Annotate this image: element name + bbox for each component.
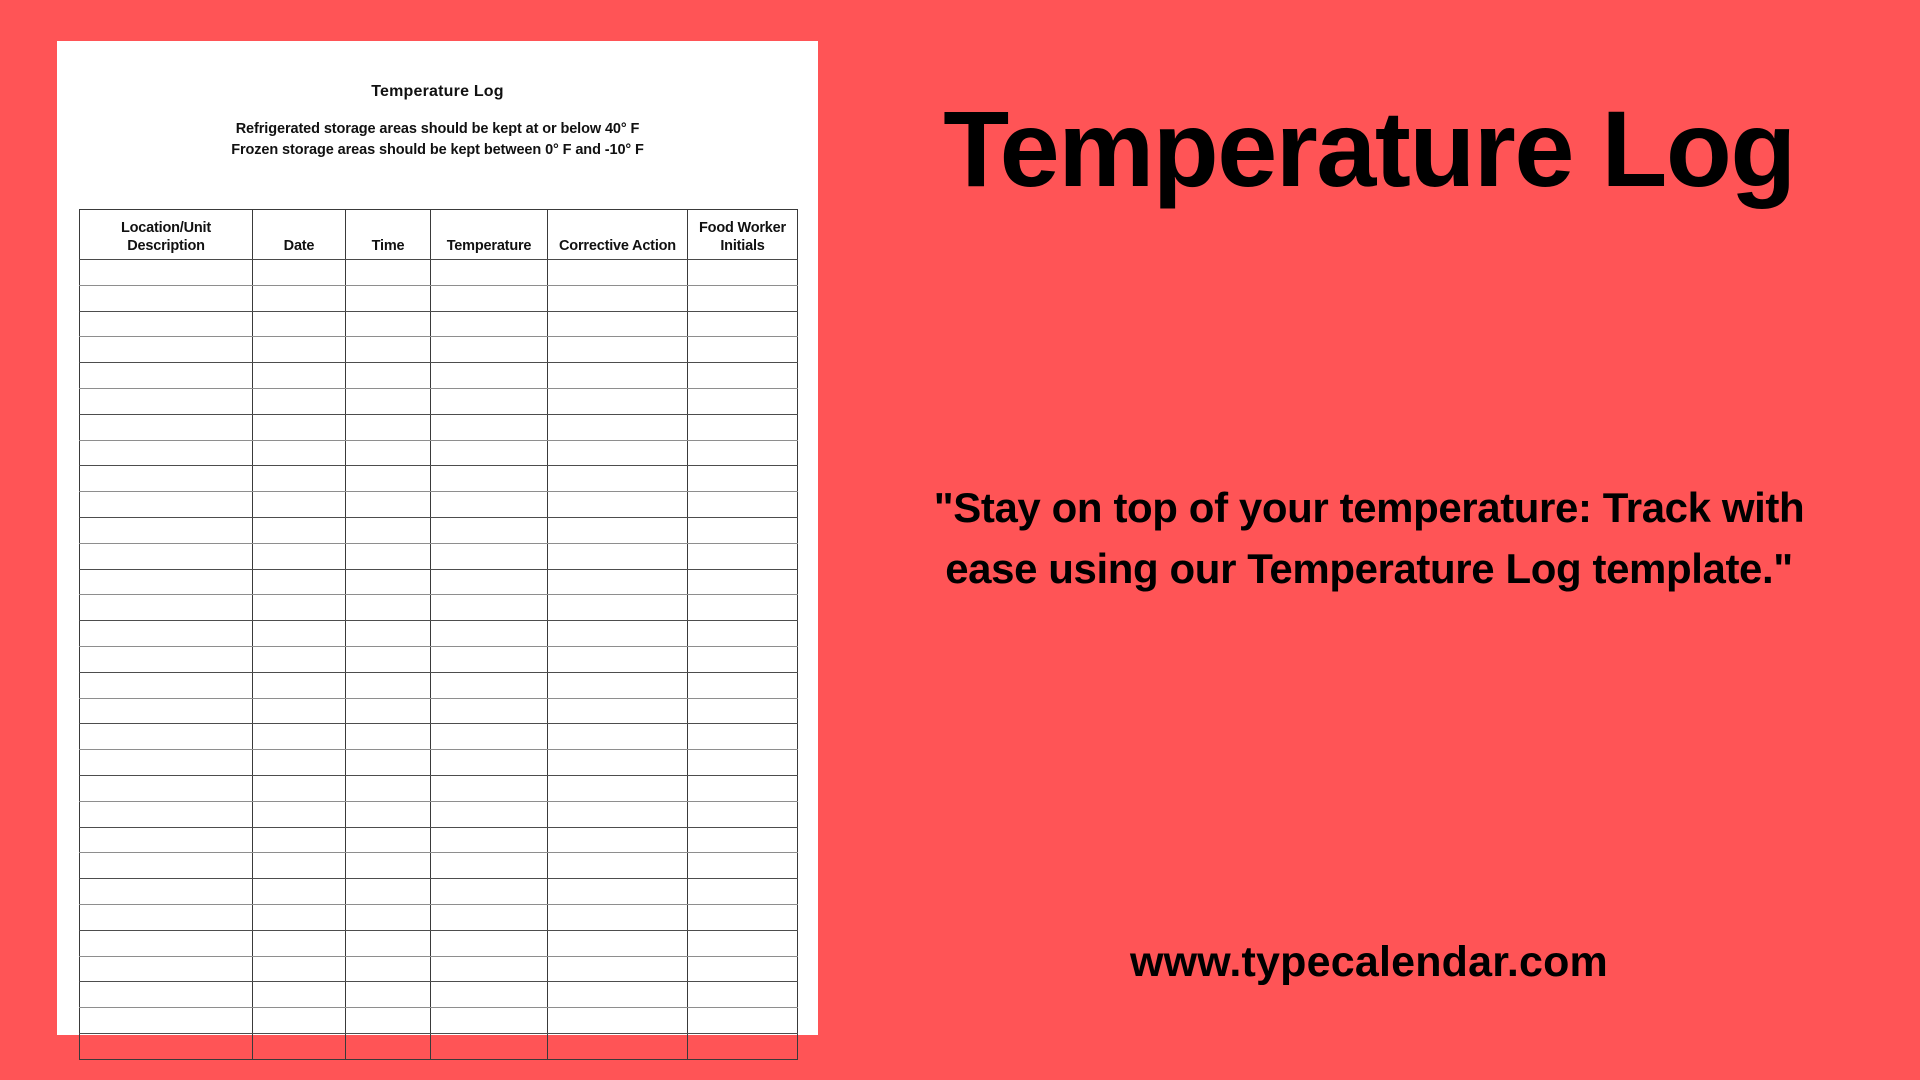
table-cell[interactable] — [80, 904, 253, 930]
table-cell[interactable] — [346, 982, 431, 1008]
table-cell[interactable] — [253, 956, 346, 982]
table-cell[interactable] — [346, 595, 431, 621]
table-cell[interactable] — [346, 1008, 431, 1034]
table-cell[interactable] — [80, 621, 253, 647]
column-header-location-line1: Location/Unit — [121, 220, 211, 236]
table-cell[interactable] — [548, 517, 688, 543]
table-cell[interactable] — [688, 698, 798, 724]
promo-quote: "Stay on top of your temperature: Track … — [914, 478, 1824, 600]
table-cell[interactable] — [346, 801, 431, 827]
promo-website-url[interactable]: www.typecalendar.com — [818, 938, 1920, 987]
table-cell[interactable] — [346, 724, 431, 750]
table-cell[interactable] — [688, 569, 798, 595]
table-cell[interactable] — [688, 363, 798, 389]
table-cell[interactable] — [688, 311, 798, 337]
table-cell[interactable] — [346, 466, 431, 492]
table-cell[interactable] — [80, 930, 253, 956]
table-cell[interactable] — [548, 466, 688, 492]
table-cell[interactable] — [431, 543, 548, 569]
table-cell[interactable] — [548, 1033, 688, 1059]
table-cell[interactable] — [80, 311, 253, 337]
table-cell[interactable] — [346, 337, 431, 363]
table-cell[interactable] — [80, 982, 253, 1008]
table-cell[interactable] — [431, 853, 548, 879]
table-cell[interactable] — [346, 621, 431, 647]
table-row[interactable] — [80, 724, 798, 750]
table-cell[interactable] — [253, 982, 346, 1008]
table-cell[interactable] — [80, 646, 253, 672]
table-cell[interactable] — [431, 311, 548, 337]
table-cell[interactable] — [548, 750, 688, 776]
table-cell[interactable] — [253, 595, 346, 621]
table-cell[interactable] — [253, 646, 346, 672]
table-cell[interactable] — [80, 595, 253, 621]
table-cell[interactable] — [80, 517, 253, 543]
table-cell[interactable] — [548, 724, 688, 750]
table-cell[interactable] — [431, 440, 548, 466]
table-cell[interactable] — [431, 672, 548, 698]
table-row[interactable] — [80, 1033, 798, 1059]
table-cell[interactable] — [431, 646, 548, 672]
table-cell[interactable] — [346, 698, 431, 724]
table-cell[interactable] — [346, 517, 431, 543]
table-cell[interactable] — [346, 1033, 431, 1059]
table-cell[interactable] — [431, 879, 548, 905]
table-cell[interactable] — [688, 517, 798, 543]
table-cell[interactable] — [80, 724, 253, 750]
table-cell[interactable] — [548, 879, 688, 905]
table-cell[interactable] — [548, 337, 688, 363]
table-cell[interactable] — [253, 285, 346, 311]
table-row[interactable] — [80, 904, 798, 930]
table-cell[interactable] — [253, 517, 346, 543]
table-cell[interactable] — [548, 646, 688, 672]
table-cell[interactable] — [253, 543, 346, 569]
table-cell[interactable] — [80, 827, 253, 853]
table-cell[interactable] — [688, 930, 798, 956]
table-cell[interactable] — [80, 801, 253, 827]
table-cell[interactable] — [688, 1033, 798, 1059]
table-row[interactable] — [80, 646, 798, 672]
table-cell[interactable] — [688, 440, 798, 466]
table-cell[interactable] — [253, 930, 346, 956]
table-cell[interactable] — [253, 775, 346, 801]
table-cell[interactable] — [548, 930, 688, 956]
table-cell[interactable] — [688, 543, 798, 569]
table-cell[interactable] — [80, 698, 253, 724]
table-cell[interactable] — [548, 363, 688, 389]
table-cell[interactable] — [688, 414, 798, 440]
column-header-temperature-label: Temperature — [447, 238, 532, 254]
table-cell[interactable] — [688, 956, 798, 982]
column-header-corrective-action-label: Corrective Action — [559, 238, 676, 254]
table-cell[interactable] — [431, 750, 548, 776]
table-cell[interactable] — [688, 260, 798, 286]
table-cell[interactable] — [688, 646, 798, 672]
table-cell[interactable] — [548, 440, 688, 466]
table-cell[interactable] — [253, 904, 346, 930]
table-cell[interactable] — [253, 388, 346, 414]
column-header-initials-line2: Initials — [720, 238, 764, 254]
table-cell[interactable] — [548, 698, 688, 724]
table-cell[interactable] — [688, 466, 798, 492]
table-cell[interactable] — [688, 904, 798, 930]
table-cell[interactable] — [688, 337, 798, 363]
table-cell[interactable] — [253, 337, 346, 363]
table-cell[interactable] — [431, 801, 548, 827]
table-cell[interactable] — [346, 879, 431, 905]
table-cell[interactable] — [688, 672, 798, 698]
table-cell[interactable] — [253, 363, 346, 389]
table-row[interactable] — [80, 414, 798, 440]
table-row[interactable] — [80, 750, 798, 776]
table-cell[interactable] — [431, 363, 548, 389]
table-cell[interactable] — [688, 801, 798, 827]
table-cell[interactable] — [80, 466, 253, 492]
table-cell[interactable] — [548, 827, 688, 853]
table-cell[interactable] — [80, 440, 253, 466]
note-frozen: Frozen storage areas should be kept betw… — [57, 140, 818, 161]
table-cell[interactable] — [80, 569, 253, 595]
table-row[interactable] — [80, 930, 798, 956]
table-cell[interactable] — [346, 775, 431, 801]
table-row[interactable] — [80, 775, 798, 801]
table-row[interactable] — [80, 827, 798, 853]
table-cell[interactable] — [688, 388, 798, 414]
table-cell[interactable] — [431, 285, 548, 311]
table-cell[interactable] — [688, 982, 798, 1008]
table-cell[interactable] — [80, 414, 253, 440]
table-header: Location/Unit Description Date Time Temp… — [80, 210, 798, 260]
table-header-row: Location/Unit Description Date Time Temp… — [80, 210, 798, 260]
table-cell[interactable] — [548, 982, 688, 1008]
table-cell[interactable] — [548, 543, 688, 569]
table-cell[interactable] — [431, 1008, 548, 1034]
column-header-date-label: Date — [284, 238, 315, 254]
table-cell[interactable] — [80, 853, 253, 879]
column-header-corrective-action: Corrective Action — [548, 210, 688, 260]
table-cell[interactable] — [431, 414, 548, 440]
table-row[interactable] — [80, 466, 798, 492]
document-title: Temperature Log — [57, 83, 818, 101]
table-cell[interactable] — [688, 853, 798, 879]
table-cell[interactable] — [253, 621, 346, 647]
table-row[interactable] — [80, 621, 798, 647]
table-cell[interactable] — [431, 724, 548, 750]
table-cell[interactable] — [431, 698, 548, 724]
table-cell[interactable] — [346, 388, 431, 414]
table-cell[interactable] — [346, 285, 431, 311]
table-row[interactable] — [80, 956, 798, 982]
temperature-log-table: Location/Unit Description Date Time Temp… — [79, 209, 798, 1060]
table-cell[interactable] — [346, 543, 431, 569]
note-refrigerated: Refrigerated storage areas should be kep… — [57, 119, 818, 140]
table-cell[interactable] — [431, 775, 548, 801]
table-cell[interactable] — [80, 956, 253, 982]
column-header-time: Time — [346, 210, 431, 260]
table-cell[interactable] — [431, 904, 548, 930]
table-cell[interactable] — [253, 724, 346, 750]
table-cell[interactable] — [548, 311, 688, 337]
table-cell[interactable] — [80, 260, 253, 286]
table-cell[interactable] — [346, 750, 431, 776]
table-cell[interactable] — [688, 750, 798, 776]
table-cell[interactable] — [431, 388, 548, 414]
table-cell[interactable] — [548, 775, 688, 801]
table-cell[interactable] — [688, 285, 798, 311]
table-cell[interactable] — [346, 260, 431, 286]
table-row[interactable] — [80, 388, 798, 414]
column-header-location-line2: Description — [127, 238, 205, 254]
table-cell[interactable] — [548, 569, 688, 595]
table-cell[interactable] — [548, 492, 688, 518]
temperature-log-table-wrapper: Location/Unit Description Date Time Temp… — [79, 209, 797, 1060]
table-cell[interactable] — [346, 853, 431, 879]
table-cell[interactable] — [431, 517, 548, 543]
table-cell[interactable] — [548, 595, 688, 621]
table-cell[interactable] — [253, 492, 346, 518]
table-cell[interactable] — [346, 646, 431, 672]
table-cell[interactable] — [548, 414, 688, 440]
table-cell[interactable] — [80, 879, 253, 905]
table-row[interactable] — [80, 517, 798, 543]
table-cell[interactable] — [253, 801, 346, 827]
column-header-date: Date — [253, 210, 346, 260]
column-header-initials-line1: Food Worker — [699, 220, 786, 236]
table-body — [80, 260, 798, 1060]
table-row[interactable] — [80, 801, 798, 827]
table-cell[interactable] — [548, 388, 688, 414]
table-cell[interactable] — [431, 260, 548, 286]
table-cell[interactable] — [253, 750, 346, 776]
table-cell[interactable] — [548, 1008, 688, 1034]
table-cell[interactable] — [548, 621, 688, 647]
table-cell[interactable] — [688, 621, 798, 647]
table-cell[interactable] — [431, 930, 548, 956]
table-cell[interactable] — [253, 1008, 346, 1034]
table-row[interactable] — [80, 337, 798, 363]
table-cell[interactable] — [346, 672, 431, 698]
document-page: Temperature Log Refrigerated storage are… — [57, 41, 818, 1035]
column-header-location: Location/Unit Description — [80, 210, 253, 260]
table-cell[interactable] — [80, 388, 253, 414]
table-row[interactable] — [80, 672, 798, 698]
table-cell[interactable] — [346, 930, 431, 956]
table-cell[interactable] — [253, 414, 346, 440]
document-content: Temperature Log Refrigerated storage are… — [57, 41, 818, 169]
table-cell[interactable] — [346, 363, 431, 389]
table-row[interactable] — [80, 260, 798, 286]
table-cell[interactable] — [548, 285, 688, 311]
table-cell[interactable] — [431, 466, 548, 492]
storage-notes: Refrigerated storage areas should be kep… — [57, 119, 818, 161]
table-cell[interactable] — [80, 775, 253, 801]
table-row[interactable] — [80, 363, 798, 389]
table-row[interactable] — [80, 1008, 798, 1034]
table-row[interactable] — [80, 698, 798, 724]
table-row[interactable] — [80, 595, 798, 621]
table-cell[interactable] — [688, 827, 798, 853]
table-cell[interactable] — [548, 853, 688, 879]
table-cell[interactable] — [431, 956, 548, 982]
table-cell[interactable] — [253, 466, 346, 492]
column-header-food-worker-initials: Food Worker Initials — [688, 210, 798, 260]
table-cell[interactable] — [431, 621, 548, 647]
table-cell[interactable] — [253, 853, 346, 879]
table-cell[interactable] — [688, 775, 798, 801]
table-row[interactable] — [80, 285, 798, 311]
table-cell[interactable] — [431, 337, 548, 363]
table-cell[interactable] — [688, 492, 798, 518]
promo-panel: Temperature Log "Stay on top of your tem… — [818, 0, 1920, 1080]
promo-title: Temperature Log — [818, 92, 1920, 205]
table-cell[interactable] — [431, 595, 548, 621]
table-cell[interactable] — [346, 904, 431, 930]
table-cell[interactable] — [253, 827, 346, 853]
table-cell[interactable] — [688, 1008, 798, 1034]
table-cell[interactable] — [548, 672, 688, 698]
table-cell[interactable] — [80, 750, 253, 776]
table-cell[interactable] — [253, 260, 346, 286]
table-cell[interactable] — [253, 698, 346, 724]
table-cell[interactable] — [253, 1033, 346, 1059]
table-cell[interactable] — [80, 363, 253, 389]
table-cell[interactable] — [253, 569, 346, 595]
table-row[interactable] — [80, 440, 798, 466]
table-cell[interactable] — [80, 285, 253, 311]
table-cell[interactable] — [253, 879, 346, 905]
table-row[interactable] — [80, 543, 798, 569]
table-cell[interactable] — [346, 492, 431, 518]
table-cell[interactable] — [431, 492, 548, 518]
table-cell[interactable] — [346, 956, 431, 982]
table-cell[interactable] — [346, 414, 431, 440]
table-cell[interactable] — [688, 595, 798, 621]
table-cell[interactable] — [80, 1033, 253, 1059]
table-cell[interactable] — [346, 827, 431, 853]
table-cell[interactable] — [548, 260, 688, 286]
table-cell[interactable] — [346, 569, 431, 595]
table-cell[interactable] — [80, 672, 253, 698]
table-cell[interactable] — [346, 311, 431, 337]
table-row[interactable] — [80, 311, 798, 337]
column-header-time-label: Time — [372, 238, 405, 254]
table-cell[interactable] — [431, 569, 548, 595]
column-header-temperature: Temperature — [431, 210, 548, 260]
table-cell[interactable] — [80, 1008, 253, 1034]
table-cell[interactable] — [688, 724, 798, 750]
table-cell[interactable] — [431, 827, 548, 853]
table-cell[interactable] — [80, 337, 253, 363]
table-cell[interactable] — [431, 982, 548, 1008]
table-cell[interactable] — [253, 672, 346, 698]
table-row[interactable] — [80, 853, 798, 879]
table-row[interactable] — [80, 569, 798, 595]
table-cell[interactable] — [80, 543, 253, 569]
table-cell[interactable] — [548, 956, 688, 982]
table-row[interactable] — [80, 492, 798, 518]
table-cell[interactable] — [548, 801, 688, 827]
table-cell[interactable] — [80, 492, 253, 518]
table-cell[interactable] — [688, 879, 798, 905]
table-cell[interactable] — [346, 440, 431, 466]
table-row[interactable] — [80, 982, 798, 1008]
table-row[interactable] — [80, 879, 798, 905]
table-cell[interactable] — [253, 440, 346, 466]
table-cell[interactable] — [431, 1033, 548, 1059]
table-cell[interactable] — [253, 311, 346, 337]
table-cell[interactable] — [548, 904, 688, 930]
